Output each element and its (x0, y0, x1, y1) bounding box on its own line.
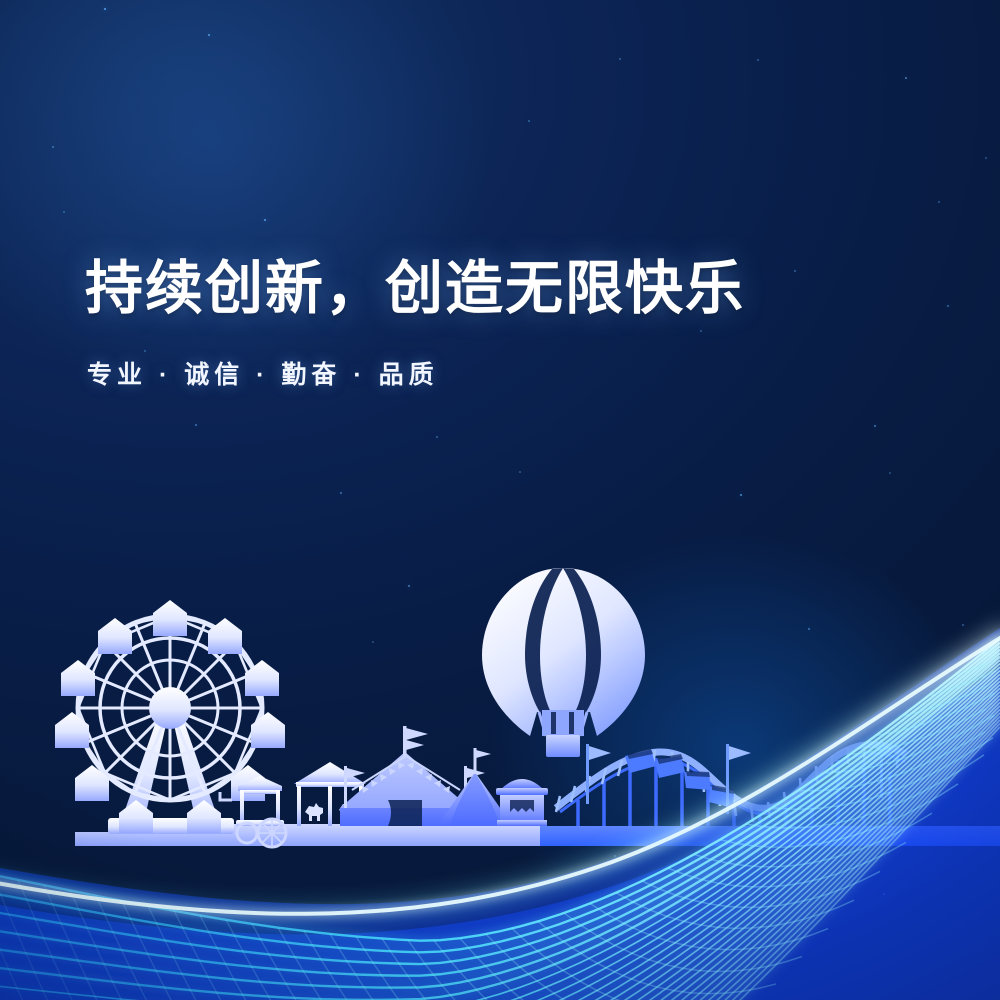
wave-mesh (0, 0, 1000, 1000)
copy-block: 持续创新，创造无限快乐 专业 · 诚信 · 勤奋 · 品质 (85, 258, 745, 391)
banner-canvas: 持续创新，创造无限快乐 专业 · 诚信 · 勤奋 · 品质 (0, 0, 1000, 1000)
page-subtitle: 专业 · 诚信 · 勤奋 · 品质 (87, 355, 745, 391)
page-title: 持续创新，创造无限快乐 (85, 258, 745, 321)
